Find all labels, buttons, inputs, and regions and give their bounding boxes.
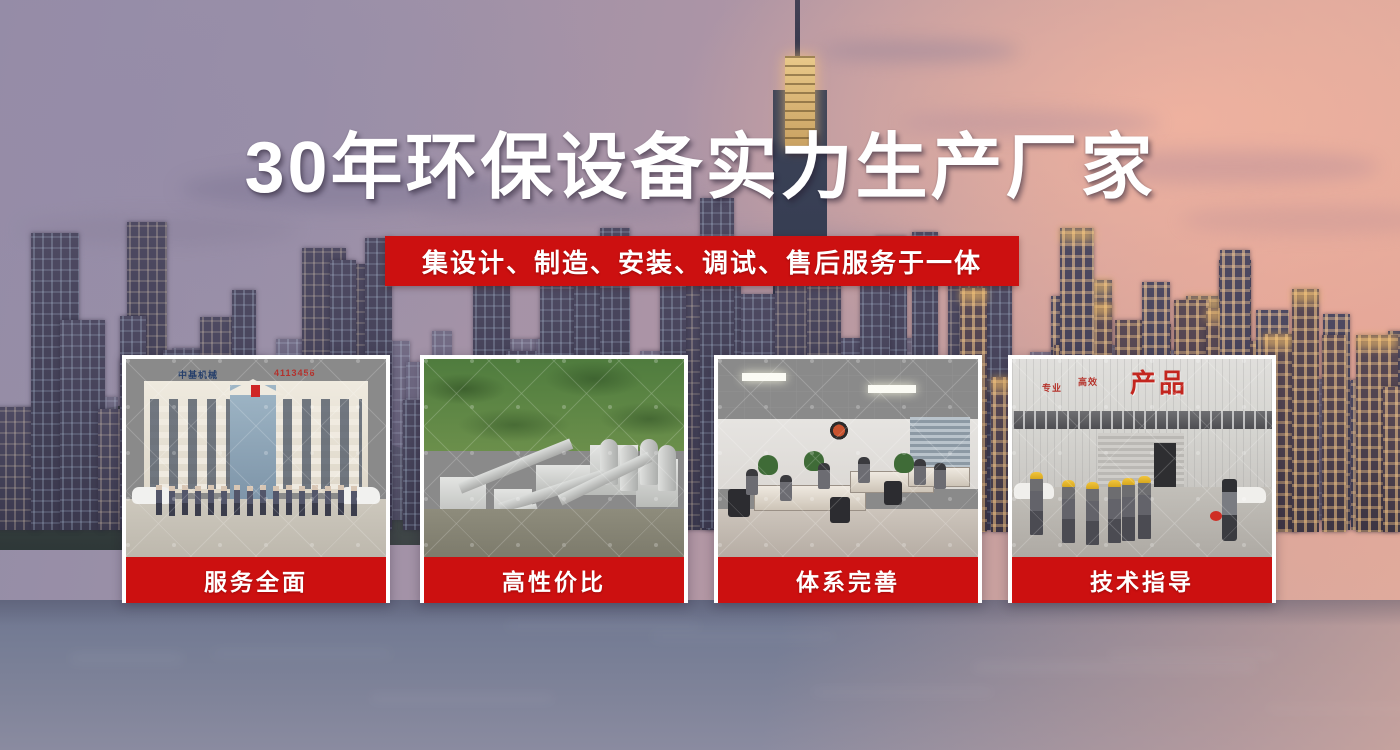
staff-person bbox=[234, 485, 240, 515]
staff-person bbox=[260, 485, 266, 515]
ceiling-light bbox=[742, 373, 786, 381]
water-reflection bbox=[1108, 652, 1275, 658]
building-sign-right: 4113456 bbox=[274, 368, 316, 378]
staff-person bbox=[338, 485, 344, 515]
water-reflection bbox=[973, 663, 1257, 671]
building-sign-left: 中基机械 bbox=[178, 368, 218, 381]
hard-hat-icon bbox=[1062, 480, 1075, 487]
watermark-node bbox=[424, 451, 428, 455]
office-worker bbox=[934, 463, 946, 489]
watermark-node bbox=[948, 497, 952, 501]
card-photo-factory-training: 产品 专业 高效 bbox=[1012, 359, 1272, 557]
water-reflection bbox=[371, 695, 553, 703]
staff-person bbox=[208, 485, 214, 515]
card-caption: 技术指导 bbox=[1090, 563, 1194, 597]
watermark-node bbox=[172, 359, 176, 363]
watermark-node bbox=[264, 359, 268, 363]
water-reflection bbox=[213, 651, 391, 655]
watermark-node bbox=[902, 497, 906, 501]
staff-person bbox=[182, 485, 188, 515]
card-caption-bar: 服务全面 bbox=[126, 557, 386, 603]
feature-card[interactable]: 体系完善 bbox=[714, 355, 982, 603]
card-photo-office-interior bbox=[718, 359, 978, 557]
rooftop-glow bbox=[1356, 335, 1399, 349]
staff-person bbox=[273, 486, 279, 516]
ceiling-light bbox=[868, 385, 916, 393]
office-chair bbox=[884, 481, 902, 505]
office-worker bbox=[818, 463, 830, 489]
hard-hat-icon bbox=[1108, 480, 1121, 487]
factory-worker bbox=[1062, 485, 1075, 543]
parked-car bbox=[340, 487, 380, 504]
watermark-node bbox=[356, 359, 360, 363]
factory-worker bbox=[1030, 477, 1043, 535]
red-helmet-icon bbox=[1210, 511, 1222, 521]
subtitle-text: 集设计、制造、安装、调试、售后服务于一体 bbox=[422, 243, 982, 280]
factory-sign-main: 产品 bbox=[1130, 363, 1188, 400]
hard-hat-icon bbox=[1138, 476, 1151, 483]
factory-sign-secondary: 专业 bbox=[1042, 381, 1062, 394]
factory-worker bbox=[1086, 487, 1099, 545]
plant-yard bbox=[424, 509, 684, 557]
watermark-node bbox=[126, 405, 130, 409]
feature-card[interactable]: 高性价比 bbox=[420, 355, 688, 603]
page-title: 30年环保设备实力生产厂家 bbox=[0, 132, 1400, 204]
rooftop-glow bbox=[1292, 289, 1319, 303]
rooftop-glow bbox=[1060, 228, 1094, 242]
wall-logo-icon bbox=[822, 415, 856, 441]
storage-silo bbox=[658, 445, 676, 491]
office-ceiling bbox=[718, 359, 978, 421]
supervisor bbox=[1222, 479, 1237, 541]
promo-banner: 30年环保设备实力生产厂家 集设计、制造、安装、调试、售后服务于一体 中基机械 … bbox=[0, 0, 1400, 750]
factory-sign-tertiary: 高效 bbox=[1078, 375, 1098, 388]
staff-person bbox=[312, 485, 318, 515]
staff-person bbox=[299, 486, 305, 516]
factory-side-door bbox=[1154, 443, 1176, 487]
water-reflection bbox=[1266, 706, 1400, 711]
staff-person bbox=[156, 485, 162, 515]
office-worker bbox=[780, 475, 792, 501]
card-caption-bar: 高性价比 bbox=[424, 557, 684, 603]
watermark-node bbox=[126, 451, 130, 455]
factory-worker bbox=[1108, 485, 1121, 543]
card-caption: 高性价比 bbox=[502, 563, 606, 597]
parked-car bbox=[132, 487, 172, 504]
staff-person bbox=[169, 486, 175, 516]
water-reflection bbox=[652, 634, 833, 640]
watermark-node bbox=[310, 359, 314, 363]
staff-person bbox=[247, 486, 253, 516]
potted-plant bbox=[758, 455, 778, 475]
factory-window-band bbox=[1012, 411, 1272, 429]
office-chair bbox=[830, 497, 850, 523]
feature-card[interactable]: 产品 专业 高效 技术指导 bbox=[1008, 355, 1276, 603]
factory-worker bbox=[1122, 483, 1135, 541]
feature-card-list: 中基机械 4113456 服务全面 高性价比 bbox=[0, 355, 1400, 605]
card-caption-bar: 体系完善 bbox=[718, 557, 978, 603]
water-reflection bbox=[71, 654, 182, 662]
watermark-node bbox=[218, 359, 222, 363]
water-reflection bbox=[812, 689, 993, 695]
card-photo-plant-aerial bbox=[424, 359, 684, 557]
factory-worker bbox=[1138, 481, 1151, 539]
plaza-ground bbox=[126, 499, 386, 557]
staff-person bbox=[195, 486, 201, 516]
rooftop-glow bbox=[960, 288, 986, 302]
watermark-node bbox=[126, 359, 130, 363]
feature-card[interactable]: 中基机械 4113456 服务全面 bbox=[122, 355, 390, 603]
staff-person bbox=[286, 485, 292, 515]
flag-icon bbox=[251, 385, 260, 397]
staff-person bbox=[351, 486, 357, 516]
office-worker bbox=[746, 469, 758, 495]
office-worker bbox=[858, 457, 870, 483]
hard-hat-icon bbox=[1086, 482, 1099, 489]
river-water bbox=[0, 600, 1400, 750]
hard-hat-icon bbox=[1030, 472, 1043, 479]
watermark-node bbox=[718, 497, 722, 501]
office-worker bbox=[914, 459, 926, 485]
hard-hat-icon bbox=[1122, 478, 1135, 485]
card-caption-bar: 技术指导 bbox=[1012, 557, 1272, 603]
card-caption: 服务全面 bbox=[204, 563, 308, 597]
potted-plant bbox=[894, 453, 914, 473]
staff-person bbox=[325, 486, 331, 516]
subtitle-banner: 集设计、制造、安装、调试、售后服务于一体 bbox=[385, 236, 1019, 286]
water-reflection bbox=[507, 623, 699, 629]
card-caption: 体系完善 bbox=[796, 563, 900, 597]
card-photo-office-building: 中基机械 4113456 bbox=[126, 359, 386, 557]
watermark-node bbox=[424, 497, 428, 501]
staff-person bbox=[221, 486, 227, 516]
